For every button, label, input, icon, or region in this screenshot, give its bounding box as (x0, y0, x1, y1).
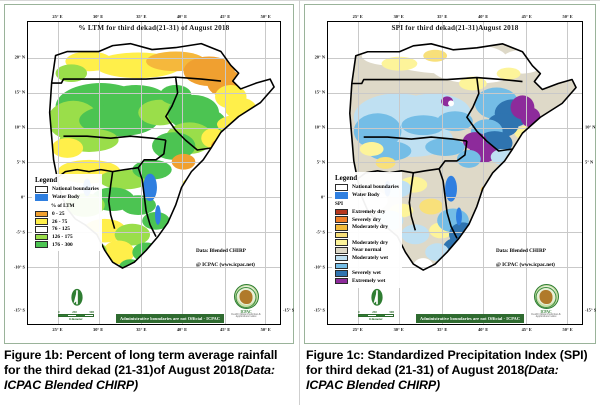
lat-tick-10n: 10° N (15, 125, 25, 130)
class-swatch-icon (335, 216, 348, 223)
lon-tick-40e: 40° E (177, 327, 187, 332)
class-swatch-icon (335, 270, 348, 277)
lon-tick-50e: 50° E (261, 327, 271, 332)
lat-tick-5s: -5° S (16, 230, 25, 235)
scale-bar: 0 250 500 Kilometer (58, 310, 94, 321)
raster-ltm (28, 22, 280, 323)
scale-bar: 0 250 500 Kilometer (358, 310, 394, 321)
legend-class-label: Near normal (352, 247, 381, 253)
legend-class-near-normal: Near normal (335, 247, 399, 254)
map-tick-frame-ltm: 20° N 15° N 10° N 5° N 0° -5° S -10° S -… (27, 21, 281, 325)
lat-tick-5n: 5° N (317, 160, 325, 165)
legend-class-label: Extremely wet (352, 278, 385, 284)
lon-tick-45e: 45° E (220, 327, 230, 332)
lon-tick-45e-top: 45° E (220, 14, 230, 19)
icpac-logo-subtitle: IGAD Climate Prediction & Applications C… (228, 314, 264, 320)
map-title-spi: SPI for third dekad(21-31)August 2018 (328, 24, 582, 32)
legend-class-label: Moderately wet (352, 255, 388, 261)
class-swatch-icon (35, 241, 48, 248)
disclaimer-banner-spi: Administrative boundaries are not Offici… (416, 314, 524, 323)
map-title-ltm: % LTM for third dekad(21-31) of August 2… (28, 24, 280, 32)
legend-class-severely-wet: Severely wet (335, 270, 399, 277)
scale-tick-0: 0 (58, 310, 60, 314)
legend-class-label: 0 - 25 (52, 211, 65, 217)
legend-class-label: 26 - 75 (52, 219, 67, 225)
legend-class-label: Severely dry (352, 217, 381, 223)
water-swatch-icon (35, 194, 48, 201)
lat-tick-15s-right: -15° S (585, 307, 596, 312)
caption-1b-bold: Figure 1b: Percent of long term average … (4, 348, 277, 377)
lon-tick-40e-top: 40° E (177, 14, 187, 19)
disclaimer-banner-ltm: Administrative boundaries are not Offici… (116, 314, 224, 323)
legend-class-severely-dry-a: Severely dry (335, 216, 399, 223)
legend-class-26-75: 26 - 75 (35, 218, 99, 225)
legend-scale-heading-spi: SPI (335, 201, 399, 207)
lat-tick-15s: -15° S (14, 307, 25, 312)
icpac-logo-mark-icon (534, 284, 559, 309)
legend-class-176-300: 176 - 300 (35, 241, 99, 248)
legend-class-label: 76 - 125 (52, 226, 70, 232)
caption-figure-1b: Figure 1b: Percent of long term average … (4, 348, 294, 392)
class-swatch-icon (335, 209, 348, 216)
legend-heading: Legend (335, 174, 399, 182)
icpac-logo-subtitle: IGAD Climate Prediction & Applications C… (528, 314, 564, 320)
legend-class-moderately-wet-a: Moderately wet (335, 255, 399, 262)
lat-tick-10s: -10° S (14, 265, 25, 270)
class-swatch-icon (335, 255, 348, 262)
legend-row-national-boundary: National boundaries (35, 186, 99, 193)
lat-tick-10n-right: 10° N (585, 125, 595, 130)
lat-tick-0: 0° (21, 195, 25, 200)
lon-tick-30e: 30° E (394, 327, 404, 332)
map-canvas-spi[interactable]: SPI for third dekad(21-31)August 2018 (327, 21, 583, 325)
lat-tick-15s-right: -15° S (283, 307, 294, 312)
lat-tick-10n: 10° N (315, 125, 325, 130)
legend-class-label: Severely wet (352, 270, 381, 276)
legend-class-label: Moderately dry (352, 224, 388, 230)
legend-row-water-body: Water Body (335, 192, 399, 199)
class-swatch-icon (335, 239, 348, 246)
class-swatch-icon (35, 234, 48, 241)
legend-label-boundary: National boundaries (52, 186, 99, 192)
lat-tick-5s: -5° S (316, 230, 325, 235)
class-swatch-icon (335, 278, 348, 285)
data-source-spi: Data: Blended CHIRP (496, 248, 546, 254)
map-tick-frame-spi: 20° N 15° N 10° N 5° N 0° -5° S -10° S -… (327, 21, 583, 325)
icpac-logo: ICPAC IGAD Climate Prediction & Applicat… (228, 284, 264, 319)
lon-tick-45e-top: 45° E (522, 14, 532, 19)
class-swatch-icon (335, 232, 348, 239)
panel-divider (299, 0, 300, 405)
class-swatch-icon (335, 224, 348, 231)
legend-row-water-body: Water Body (35, 194, 99, 201)
legend-class-126-175: 126 - 175 (35, 234, 99, 241)
panel-ltm: 20° N 15° N 10° N 5° N 0° -5° S -10° S -… (0, 0, 298, 405)
lon-tick-35e: 35° E (437, 327, 447, 332)
icpac-logo-mark-icon (234, 284, 259, 309)
map-canvas-ltm[interactable]: % LTM for third dekad(21-31) of August 2… (27, 21, 281, 325)
lat-tick-10s: -10° S (314, 265, 325, 270)
legend-class-moderately-dry-b: Moderately dry (335, 239, 399, 246)
legend-class-0-25: 0 - 25 (35, 211, 99, 218)
lon-tick-40e-top: 40° E (478, 14, 488, 19)
lon-tick-25e: 25° E (353, 327, 363, 332)
lon-tick-35e: 35° E (136, 327, 146, 332)
scale-tick-250: 250 (72, 310, 77, 314)
boundary-swatch-icon (335, 184, 348, 191)
legend-spi: Legend National boundaries Water Body SP… (332, 172, 402, 288)
legend-class-gold (335, 232, 399, 239)
legend-label-water: Water Body (52, 194, 80, 200)
lat-tick-15s: -15° S (314, 307, 325, 312)
lon-tick-35e-top: 35° E (136, 14, 146, 19)
legend-scale-heading-ltm: % of LTM (51, 203, 99, 209)
lon-tick-30e-top: 30° E (93, 14, 103, 19)
legend-class-label: Extremely dry (352, 209, 385, 215)
scale-unit: Kilometer (358, 317, 394, 321)
lon-tick-25e-top: 25° E (353, 14, 363, 19)
lon-tick-30e: 30° E (93, 327, 103, 332)
legend-class-blue-mid (335, 263, 399, 270)
lon-tick-25e: 25° E (52, 327, 62, 332)
lat-tick-15n: 15° N (15, 90, 25, 95)
legend-class-extremely-wet: Extremely wet (335, 278, 399, 285)
map-card-ltm: 20° N 15° N 10° N 5° N 0° -5° S -10° S -… (4, 4, 294, 344)
icpac-logo: ICPAC IGAD Climate Prediction & Applicat… (528, 284, 564, 319)
legend-label-boundary: National boundaries (352, 184, 399, 190)
scale-unit: Kilometer (58, 317, 94, 321)
legend-row-national-boundary: National boundaries (335, 184, 399, 191)
lon-tick-45e: 45° E (522, 327, 532, 332)
lon-tick-50e-top: 50° E (563, 14, 573, 19)
map-card-spi: 20° N 15° N 10° N 5° N 0° -5° S -10° S -… (304, 4, 596, 344)
north-arrow-icon (70, 288, 84, 308)
lon-tick-25e-top: 25° E (52, 14, 62, 19)
legend-class-76-125: 76 - 125 (35, 226, 99, 233)
boundary-swatch-icon (35, 186, 48, 193)
scale-tick-0: 0 (358, 310, 360, 314)
north-arrow-icon (370, 288, 384, 308)
lat-tick-15n: 15° N (315, 90, 325, 95)
lon-tick-50e: 50° E (563, 327, 573, 332)
scale-tick-250: 250 (372, 310, 377, 314)
figure-page: 20° N 15° N 10° N 5° N 0° -5° S -10° S -… (0, 0, 600, 405)
lat-tick-0: 0° (321, 195, 325, 200)
scale-tick-500: 500 (389, 310, 394, 314)
legend-heading: Legend (35, 176, 99, 184)
data-source-ltm: Data: Blended CHIRP (196, 248, 246, 254)
attribution-spi: @ ICPAC (www.icpac.net) (496, 262, 555, 268)
class-swatch-icon (35, 226, 48, 233)
legend-class-label: 176 - 300 (52, 242, 73, 248)
lon-tick-40e: 40° E (478, 327, 488, 332)
scale-tick-500: 500 (89, 310, 94, 314)
legend-ltm: Legend National boundaries Water Body % … (32, 174, 102, 251)
class-swatch-icon (35, 211, 48, 218)
caption-figure-1c: Figure 1c: Standardized Precipitation In… (306, 348, 596, 392)
legend-class-label: 126 - 175 (52, 234, 73, 240)
legend-label-water: Water Body (352, 192, 380, 198)
lon-tick-30e-top: 30° E (394, 14, 404, 19)
panel-spi: 20° N 15° N 10° N 5° N 0° -5° S -10° S -… (302, 0, 600, 405)
legend-class-moderately-dry-a: Moderately dry (335, 224, 399, 231)
lat-tick-5n: 5° N (17, 160, 25, 165)
class-swatch-icon (35, 218, 48, 225)
lon-tick-50e-top: 50° E (261, 14, 271, 19)
legend-class-label: Moderately dry (352, 240, 388, 246)
water-swatch-icon (335, 192, 348, 199)
attribution-ltm: @ ICPAC (www.icpac.net) (196, 262, 255, 268)
lat-tick-20n: 20° N (315, 55, 325, 60)
lat-tick-20n: 20° N (15, 55, 25, 60)
class-swatch-icon (335, 263, 348, 270)
class-swatch-icon (335, 247, 348, 254)
lat-tick-5n-right: 5° N (585, 160, 593, 165)
legend-class-extremely-dry: Extremely dry (335, 209, 399, 216)
lon-tick-35e-top: 35° E (437, 14, 447, 19)
